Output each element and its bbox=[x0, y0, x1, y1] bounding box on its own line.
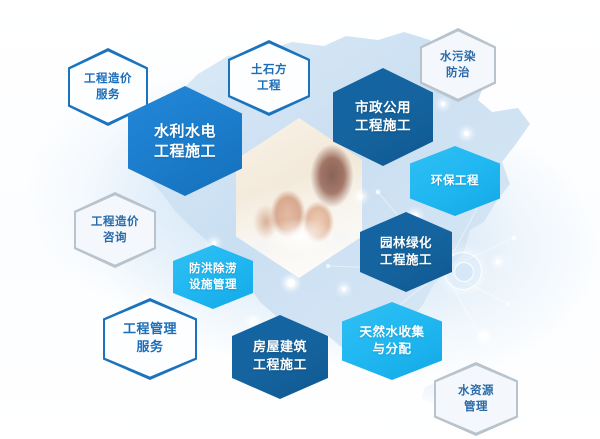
hexagon-label: 水污染防治 bbox=[440, 49, 476, 80]
hexagon-label-line: 工程施工 bbox=[154, 141, 216, 161]
hexagon-label-line: 与分配 bbox=[359, 341, 424, 358]
hexagon-label: 园林绿化工程施工 bbox=[380, 235, 432, 269]
hexagon-label-line: 水利水电 bbox=[154, 121, 216, 141]
hexagon-label-line: 工程施工 bbox=[355, 117, 411, 135]
hexagon-label-line: 工程施工 bbox=[380, 252, 432, 269]
hexagon-label-line: 水污染 bbox=[440, 49, 476, 65]
hexagon-badge-tianranshui-shouji[interactable]: 天然水收集与分配 bbox=[342, 302, 442, 380]
hexagon-label-line: 市政公用 bbox=[355, 99, 411, 117]
hexagon-label-line: 工程管理 bbox=[123, 321, 177, 339]
hexagon-label: 土石方工程 bbox=[251, 62, 287, 93]
hexagon-label: 房屋建筑工程施工 bbox=[253, 339, 307, 374]
hexagon-label-line: 服务 bbox=[123, 339, 177, 357]
hexagon-badge-gongcheng-zaojia-zixun[interactable]: 工程造价咨询 bbox=[74, 192, 156, 268]
hexagon-label-line: 管理 bbox=[458, 399, 494, 415]
hexagon-label: 天然水收集与分配 bbox=[359, 324, 424, 358]
hexagon-label-line: 设施管理 bbox=[189, 277, 237, 293]
hexagon-label-line: 房屋建筑 bbox=[253, 339, 307, 357]
hexagon-badge-gongcheng-guanli-fuwu[interactable]: 工程管理服务 bbox=[103, 298, 197, 380]
hexagon-label: 防洪除涝设施管理 bbox=[189, 261, 237, 292]
hexagon-label-line: 工程造价 bbox=[84, 71, 132, 87]
hexagon-label: 工程造价咨询 bbox=[91, 214, 139, 245]
hexagon-label-line: 防洪除涝 bbox=[189, 261, 237, 277]
hexagon-label-line: 环保工程 bbox=[431, 173, 479, 189]
hexagon-label: 工程管理服务 bbox=[123, 321, 177, 356]
hexagon-label: 市政公用工程施工 bbox=[355, 99, 411, 135]
hexagon-badge-shuiwuran-fangzhi[interactable]: 水污染防治 bbox=[420, 28, 496, 102]
hexagon-label-line: 土石方 bbox=[251, 62, 287, 78]
hexagon-label: 环保工程 bbox=[431, 173, 479, 189]
hexagon-label-line: 园林绿化 bbox=[380, 235, 432, 252]
hexagon-label-line: 服务 bbox=[84, 87, 132, 103]
hexagon-label-line: 水资源 bbox=[458, 383, 494, 399]
hexagon-label-line: 工程造价 bbox=[91, 214, 139, 230]
hexagon-label-line: 天然水收集 bbox=[359, 324, 424, 341]
hexagon-badge-shuili-shuidian[interactable]: 水利水电工程施工 bbox=[128, 86, 242, 196]
hexagon-badge-shuiziyuan-guanli[interactable]: 水资源管理 bbox=[434, 362, 518, 436]
hexagon-badge-yuanlin-lvhua[interactable]: 园林绿化工程施工 bbox=[360, 212, 452, 292]
hexagon-label-line: 工程施工 bbox=[253, 357, 307, 375]
hexagon-label: 工程造价服务 bbox=[84, 71, 132, 102]
hexagon-badge-fangwu-jianzhu[interactable]: 房屋建筑工程施工 bbox=[232, 315, 328, 399]
hexagon-label: 水利水电工程施工 bbox=[154, 121, 216, 162]
infographic-canvas: 工程造价服务土石方工程水利水电工程施工市政公用工程施工水污染防治环保工程工程造价… bbox=[0, 0, 600, 439]
hexagon-label: 水资源管理 bbox=[458, 383, 494, 414]
hexagon-label-line: 工程 bbox=[251, 78, 287, 94]
hexagon-label-line: 防治 bbox=[440, 65, 476, 81]
hexagon-badge-huanbao-gongcheng[interactable]: 环保工程 bbox=[410, 146, 500, 216]
hexagon-label-line: 咨询 bbox=[91, 230, 139, 246]
